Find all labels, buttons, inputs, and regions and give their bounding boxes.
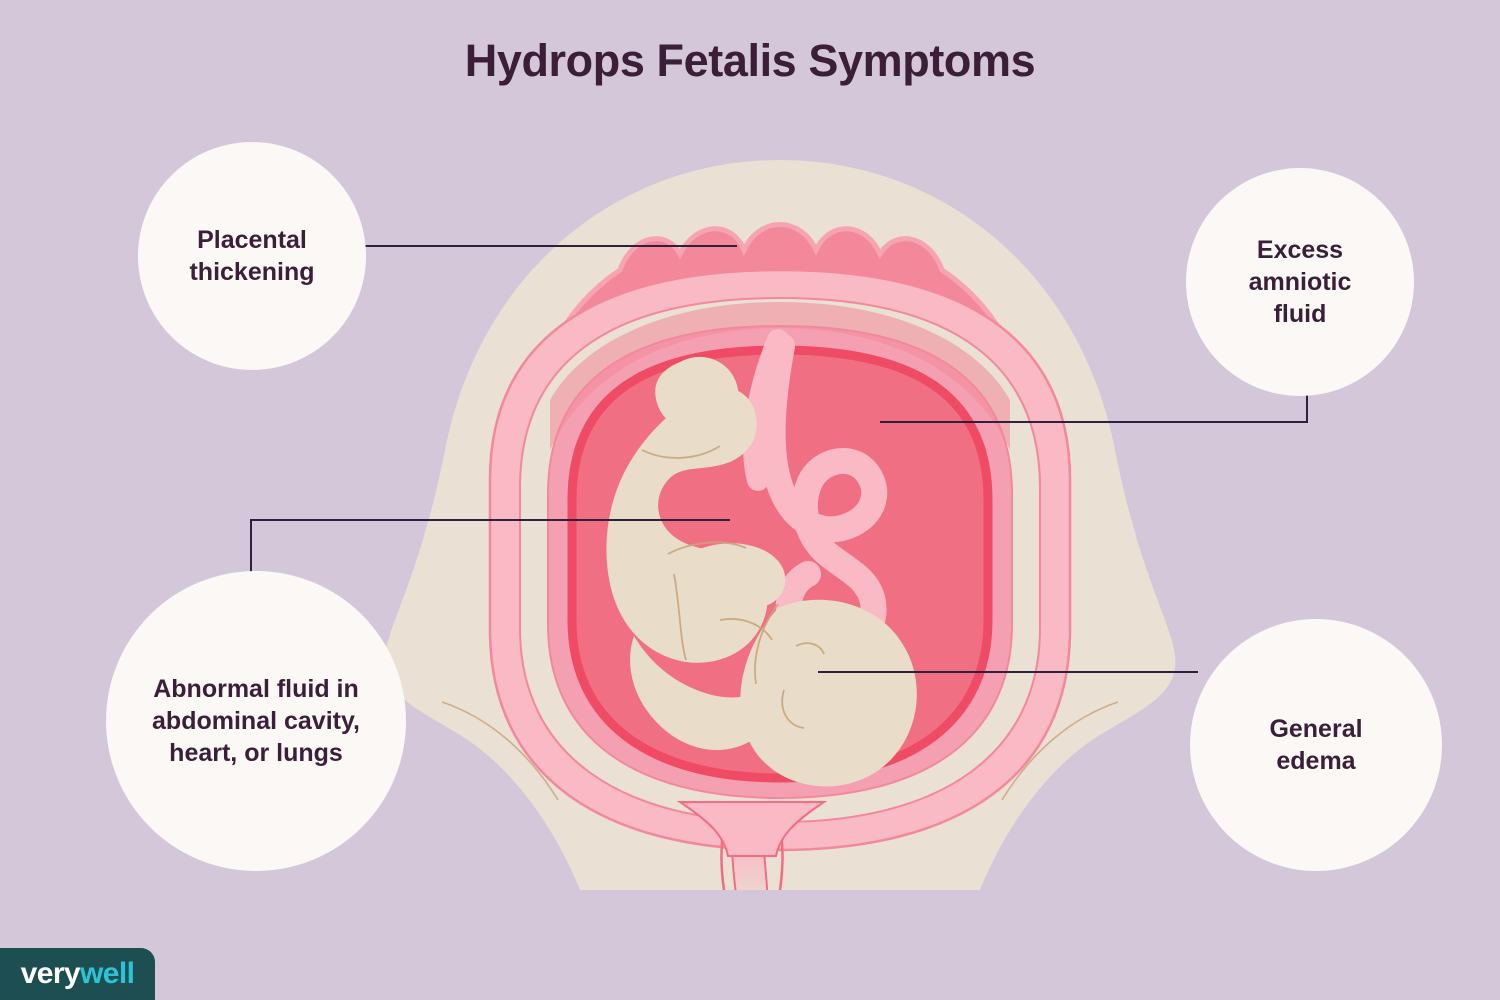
logo-well-text: well — [80, 957, 134, 990]
connector-placental-thickening — [363, 245, 737, 247]
verywell-logo[interactable]: verywell — [0, 948, 155, 1000]
callout-line: abdominal cavity, — [136, 705, 376, 737]
connector-general-edema — [818, 671, 1198, 673]
callout-line: Abnormal fluid in — [136, 673, 376, 705]
callout-general-edema-label: General edema — [1237, 713, 1394, 777]
page-title: Hydrops Fetalis Symptoms — [0, 36, 1500, 86]
callout-general-edema[interactable]: General edema — [1190, 619, 1442, 871]
callout-line: thickening — [173, 256, 330, 288]
callout-line: fluid — [1233, 298, 1368, 330]
callout-placental-thickening-label: Placental thickening — [157, 224, 346, 288]
callout-abnormal-fluid-label: Abnormal fluid in abdominal cavity, hear… — [120, 673, 392, 769]
callout-excess-amniotic-fluid[interactable]: Excess amniotic fluid — [1186, 168, 1414, 396]
logo-very-text: very — [21, 957, 80, 990]
connector-excess-amniotic-fluid-vertical — [1306, 392, 1308, 422]
infographic-canvas: Hydrops Fetalis Symptoms — [0, 0, 1500, 1000]
callout-placental-thickening[interactable]: Placental thickening — [138, 142, 366, 370]
callout-line: Placental — [173, 224, 330, 256]
callout-line: heart, or lungs — [136, 737, 376, 769]
callout-excess-amniotic-fluid-label: Excess amniotic fluid — [1217, 234, 1384, 330]
callout-abnormal-fluid[interactable]: Abnormal fluid in abdominal cavity, hear… — [106, 571, 406, 871]
connector-abnormal-fluid-horizontal — [250, 519, 730, 521]
connector-excess-amniotic-fluid-horizontal — [880, 421, 1308, 423]
callout-line: General — [1253, 713, 1378, 745]
callout-line: edema — [1253, 745, 1378, 777]
callout-line: Excess — [1233, 234, 1368, 266]
callout-line: amniotic — [1233, 266, 1368, 298]
verywell-logo-text: verywell — [21, 959, 135, 989]
